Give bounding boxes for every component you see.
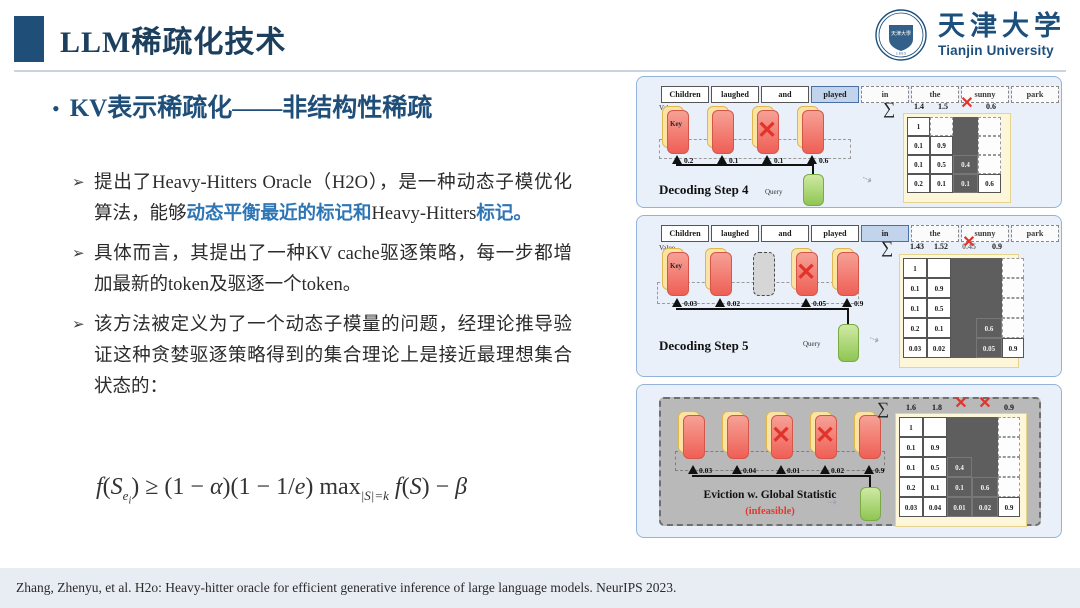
sum-value: 1.8	[926, 403, 948, 412]
citation-text: Zhang, Zhenyu, et al. H2o: Heavy-hitter …	[16, 580, 676, 596]
eviction-infeasible-label: (infeasible)	[745, 506, 795, 517]
sum-value: 1.6	[900, 403, 922, 412]
key-box: ✕	[757, 110, 779, 154]
attention-arrow-icon	[717, 155, 727, 164]
token: played	[811, 86, 859, 103]
matrix-cell-masked: 0.6	[976, 318, 1002, 338]
body-list: ➢ 提出了Heavy-Hitters Oracle（H2O），是一种动态子模优化…	[72, 168, 572, 412]
list-item-text: 具体而言，其提出了一种KV cache驱逐策略，每一步都增加最新的token及驱…	[94, 239, 572, 301]
step-label: Decoding Step 4	[659, 182, 749, 198]
attention-weight: 0.02	[727, 299, 740, 308]
attention-weight: 0.6	[819, 156, 828, 165]
list-item: ➢ 该方法被定义为了一个动态子模量的问题，经理论推导验证这种贪婪驱逐策略得到的集…	[72, 310, 572, 403]
matrix-cell: 0.1	[930, 174, 953, 193]
matrix-cell: 0.2	[907, 174, 930, 193]
matrix-cell-masked: 0.1	[947, 477, 972, 497]
matrix-cell	[1002, 258, 1024, 278]
matrix-cell: 0.9	[998, 497, 1020, 517]
attention-arrow-icon	[864, 465, 874, 474]
token: the	[911, 225, 959, 242]
matrix-cell	[1002, 298, 1024, 318]
sum-value: 1.5	[933, 102, 953, 111]
matrix-cell-masked: 0.1	[953, 174, 978, 193]
matrix-cell: 1	[899, 417, 923, 437]
attention-weight: 0.04	[743, 466, 756, 475]
matrix-cell	[978, 117, 1001, 136]
sum-evicted-x-icon: ✕	[957, 99, 977, 109]
matrix-cell	[1002, 278, 1024, 298]
matrix-cell	[927, 258, 951, 278]
header-divider	[14, 70, 1066, 72]
matrix-cell: 1	[907, 117, 930, 136]
slide-header: LLM稀疏化技术	[0, 16, 286, 62]
sum-evicted-x-icon: ✕	[950, 399, 972, 409]
token: and	[761, 225, 809, 242]
token-row: Children laughed and played in the sunny…	[661, 86, 1062, 103]
section-heading-text: KV表示稀疏化——非结构性稀疏	[70, 88, 433, 124]
sum-value: 1.52	[929, 242, 953, 251]
matrix-cell	[978, 155, 1001, 174]
matrix-cell: 0.9	[923, 437, 947, 457]
matrix-cell: 0.1	[907, 136, 930, 155]
slide-root: LLM稀疏化技术 天津大學 1 8 9 5 天津大学 Tianjin Unive…	[0, 0, 1080, 608]
bullet-icon: •	[52, 98, 60, 120]
key-box	[727, 415, 749, 459]
attention-matrix: 1 0.1 0.9 0.1 0.5 0.2 0.1 0.6 0.03 0.02 …	[899, 254, 1019, 368]
matrix-cell	[998, 437, 1020, 457]
attention-connector	[692, 475, 871, 477]
matrix-cell-masked: 0.05	[976, 338, 1002, 358]
matrix-cell-masked: 0.01	[947, 497, 972, 517]
matrix-cell: 0.2	[899, 477, 923, 497]
key-box: Key	[667, 110, 689, 154]
sigma-icon: ∑	[877, 399, 889, 419]
attention-arrow-icon	[688, 465, 698, 474]
step-label: Decoding Step 5	[659, 338, 749, 354]
matrix-cell: 0.03	[903, 338, 927, 358]
token: and	[761, 86, 809, 103]
token: Children	[661, 225, 709, 242]
key-box: ✕	[771, 415, 793, 459]
key-box: Key	[667, 252, 689, 296]
sum-value: 0.6	[981, 102, 1001, 111]
token: laughed	[711, 225, 759, 242]
key-box: ✕	[796, 252, 818, 296]
flow-arrow-icon: ⇢	[827, 495, 837, 510]
key-box-removed	[753, 252, 775, 296]
matrix-cell: 0.02	[927, 338, 951, 358]
query-label: Query	[765, 188, 783, 196]
list-item-text: 该方法被定义为了一个动态子模量的问题，经理论推导验证这种贪婪驱逐策略得到的集合理…	[94, 310, 572, 403]
attention-arrow-icon	[715, 298, 725, 307]
matrix-cell: 0.1	[903, 298, 927, 318]
svg-text:1 8 9 5: 1 8 9 5	[896, 52, 906, 56]
page-title: LLM稀疏化技术	[60, 17, 286, 61]
matrix-cell: 0.1	[899, 457, 923, 477]
matrix-cell: 0.03	[899, 497, 923, 517]
matrix-cell: 0.1	[927, 318, 951, 338]
matrix-cell: 0.2	[903, 318, 927, 338]
university-logo: 天津大學 1 8 9 5 天津大学 Tianjin University	[874, 8, 1066, 62]
key-box	[859, 415, 881, 459]
attention-weight: 0.03	[684, 299, 697, 308]
query-box	[803, 174, 824, 206]
matrix-cell	[930, 117, 953, 136]
section-heading: • KV表示稀疏化——非结构性稀疏	[52, 88, 432, 124]
footer-citation-bar: Zhang, Zhenyu, et al. H2o: Heavy-hitter …	[0, 568, 1080, 608]
logo-wordmark: 天津大学 Tianjin University	[938, 13, 1066, 58]
tianjin-university-seal-icon: 天津大學 1 8 9 5	[874, 8, 928, 62]
token: park	[1011, 225, 1059, 242]
sum-evicted-x-icon: ✕	[957, 238, 981, 248]
title-accent-square	[14, 16, 44, 62]
sum-value: 0.9	[985, 242, 1009, 251]
matrix-cell-masked: 0.4	[953, 155, 978, 174]
token: the	[911, 86, 959, 103]
token: Children	[661, 86, 709, 103]
matrix-cell-masked: 0.4	[947, 457, 972, 477]
formula: f(Sei) ≥ (1 − α)(1 − 1/e) max|S|=k f(S) …	[96, 474, 467, 506]
attention-matrix: 1 0.1 0.9 0.1 0.5 0.4 0.2 0.1 0.1 0.6 0.…	[895, 413, 1027, 527]
evict-x-icon: ✕	[815, 424, 835, 448]
matrix-cell: 0.5	[927, 298, 951, 318]
figure-h2o-diagram: Children laughed and played in the sunny…	[636, 76, 1062, 542]
attention-arrow-icon	[801, 298, 811, 307]
arrow-bullet-icon: ➢	[72, 310, 94, 341]
key-box	[712, 110, 734, 154]
list-item: ➢ 提出了Heavy-Hitters Oracle（H2O），是一种动态子模优化…	[72, 168, 572, 230]
sigma-icon: ∑	[881, 238, 893, 258]
sum-value: 1.4	[909, 102, 929, 111]
matrix-cell: 0.9	[1002, 338, 1024, 358]
panel-eviction-global-statistic: ✕ ✕ 0.03 0.04 0.01 0.02 0.9 Eviction	[636, 384, 1062, 538]
matrix-cell: 0.1	[903, 278, 927, 298]
evict-x-icon: ✕	[757, 119, 777, 143]
query-box	[838, 324, 859, 362]
matrix-cell: 0.9	[930, 136, 953, 155]
matrix-cell: 0.5	[930, 155, 953, 174]
attention-connector	[676, 164, 814, 166]
matrix-cell-masked: 0.02	[972, 497, 998, 517]
sigma-icon: ∑	[883, 99, 895, 119]
evict-x-icon: ✕	[771, 424, 791, 448]
sum-evicted-x-icon: ✕	[974, 399, 996, 409]
attention-weight: 0.9	[854, 299, 863, 308]
attention-connector	[676, 308, 849, 310]
key-box	[837, 252, 859, 296]
logo-name-en: Tianjin University	[938, 44, 1054, 58]
matrix-cell: 1	[903, 258, 927, 278]
matrix-cell: 0.1	[923, 477, 947, 497]
token-row: Children laughed and played in the sunny…	[661, 225, 1062, 242]
matrix-cell: 0.6	[978, 174, 1001, 193]
evict-x-icon: ✕	[796, 261, 816, 285]
key-box	[802, 110, 824, 154]
flow-arrow-icon: ⇢	[859, 171, 874, 189]
matrix-cell	[978, 136, 1001, 155]
matrix-cell	[1002, 318, 1024, 338]
list-item-text: 提出了Heavy-Hitters Oracle（H2O），是一种动态子模优化算法…	[94, 168, 572, 230]
key-label: Key	[670, 262, 682, 270]
matrix-cell	[998, 417, 1020, 437]
token: .	[1061, 225, 1062, 242]
matrix-cell-masked: 0.6	[972, 477, 998, 497]
attention-matrix: 1 0.1 0.9 0.1 0.5 0.4 0.2 0.1 0.1 0.6	[903, 113, 1011, 203]
attention-arrow-icon	[842, 298, 852, 307]
arrow-bullet-icon: ➢	[72, 239, 94, 270]
list-item: ➢ 具体而言，其提出了一种KV cache驱逐策略，每一步都增加最新的token…	[72, 239, 572, 301]
matrix-cell: 0.9	[927, 278, 951, 298]
attention-arrow-icon	[672, 155, 682, 164]
attention-arrow-icon	[732, 465, 742, 474]
panel-decoding-step-4: Children laughed and played in the sunny…	[636, 76, 1062, 208]
logo-name-cn: 天津大学	[938, 13, 1066, 40]
token: laughed	[711, 86, 759, 103]
svg-text:天津大學: 天津大學	[891, 30, 911, 37]
token: played	[811, 225, 859, 242]
arrow-bullet-icon: ➢	[72, 168, 94, 199]
matrix-cell	[923, 417, 947, 437]
attention-weight: 0.05	[813, 299, 826, 308]
attention-arrow-icon	[820, 465, 830, 474]
key-box: ✕	[815, 415, 837, 459]
attention-arrow-icon	[776, 465, 786, 474]
matrix-cell: 0.1	[907, 155, 930, 174]
panel-decoding-step-5: Children laughed and played in the sunny…	[636, 215, 1062, 377]
key-box	[683, 415, 705, 459]
matrix-cell	[998, 457, 1020, 477]
attention-weight: 0.9	[875, 466, 884, 475]
matrix-cell	[998, 477, 1020, 497]
query-label: Query	[803, 340, 821, 348]
flow-arrow-icon: ⇢	[867, 331, 882, 349]
attention-weight: 0.03	[699, 466, 712, 475]
matrix-cell: 0.04	[923, 497, 947, 517]
attention-weight: 0.01	[787, 466, 800, 475]
attention-arrow-icon	[807, 155, 817, 164]
matrix-cell: 0.1	[899, 437, 923, 457]
key-label: Key	[670, 120, 682, 128]
token: .	[1061, 86, 1062, 103]
token: park	[1011, 86, 1059, 103]
attention-weight: 0.02	[831, 466, 844, 475]
attention-arrow-icon	[672, 298, 682, 307]
matrix-cell: 0.5	[923, 457, 947, 477]
sum-value: 0.9	[998, 403, 1020, 412]
key-box	[710, 252, 732, 296]
sum-value: 1.43	[905, 242, 929, 251]
attention-arrow-icon	[762, 155, 772, 164]
